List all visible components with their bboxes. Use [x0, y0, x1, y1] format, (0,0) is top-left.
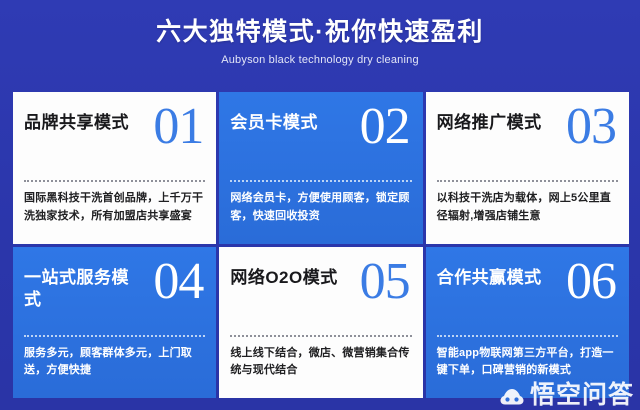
card-number: 01 — [153, 102, 203, 151]
mode-card-03: 网络推广模式 03 以科技干洗店为载体，网上5公里直径辐射,增强店铺生意 — [426, 92, 629, 244]
poster-header: 六大独特模式·祝你快速盈利 Aubyson black technology d… — [0, 0, 640, 66]
card-body: 网络会员卡，方便使用顾客，锁定顾客，快速回收投资 — [230, 190, 411, 226]
card-number: 02 — [360, 102, 410, 151]
mode-card-01: 品牌共享模式 01 国际黑科技干洗首创品牌，上千万干洗独家技术，所有加盟店共享盛… — [13, 92, 216, 244]
dotted-divider — [24, 180, 205, 182]
card-head: 网络O2O模式 05 — [230, 263, 411, 329]
poster: 六大独特模式·祝你快速盈利 Aubyson black technology d… — [0, 0, 640, 410]
dotted-divider — [24, 335, 205, 337]
card-title: 一站式服务模式 — [24, 263, 142, 312]
card-number: 05 — [360, 257, 410, 306]
mode-card-04: 一站式服务模式 04 服务多元，顾客群体多元，上门取送，方便快捷 — [13, 247, 216, 399]
card-body: 线上线下结合，微店、微营销集合传统与现代结合 — [230, 345, 411, 381]
mode-card-02: 会员卡模式 02 网络会员卡，方便使用顾客，锁定顾客，快速回收投资 — [219, 92, 422, 244]
card-head: 合作共赢模式 06 — [437, 263, 618, 329]
mode-card-06: 合作共赢模式 06 智能app物联网第三方平台，打造一键下单，口碑营销的新模式 — [426, 247, 629, 399]
card-head: 一站式服务模式 04 — [24, 263, 205, 329]
card-number: 04 — [153, 257, 203, 306]
card-body: 服务多元，顾客群体多元，上门取送，方便快捷 — [24, 345, 205, 381]
card-title: 会员卡模式 — [230, 108, 318, 135]
dotted-divider — [437, 335, 618, 337]
mode-card-05: 网络O2O模式 05 线上线下结合，微店、微营销集合传统与现代结合 — [219, 247, 422, 399]
mode-card-grid: 品牌共享模式 01 国际黑科技干洗首创品牌，上千万干洗独家技术，所有加盟店共享盛… — [13, 92, 629, 398]
dotted-divider — [437, 180, 618, 182]
card-body: 以科技干洗店为载体，网上5公里直径辐射,增强店铺生意 — [437, 190, 618, 226]
dotted-divider — [230, 335, 411, 337]
card-body: 智能app物联网第三方平台，打造一键下单，口碑营销的新模式 — [437, 345, 618, 381]
card-body: 国际黑科技干洗首创品牌，上千万干洗独家技术，所有加盟店共享盛宴 — [24, 190, 205, 226]
card-head: 网络推广模式 03 — [437, 108, 618, 174]
card-title: 品牌共享模式 — [24, 108, 129, 135]
page-subtitle: Aubyson black technology dry cleaning — [0, 54, 640, 66]
card-head: 品牌共享模式 01 — [24, 108, 205, 174]
card-title: 网络推广模式 — [437, 108, 542, 135]
card-number: 03 — [566, 102, 616, 151]
card-title: 网络O2O模式 — [230, 263, 337, 290]
card-title: 合作共赢模式 — [437, 263, 542, 290]
card-number: 06 — [566, 257, 616, 306]
page-title: 六大独特模式·祝你快速盈利 — [0, 18, 640, 47]
card-head: 会员卡模式 02 — [230, 108, 411, 174]
dotted-divider — [230, 180, 411, 182]
